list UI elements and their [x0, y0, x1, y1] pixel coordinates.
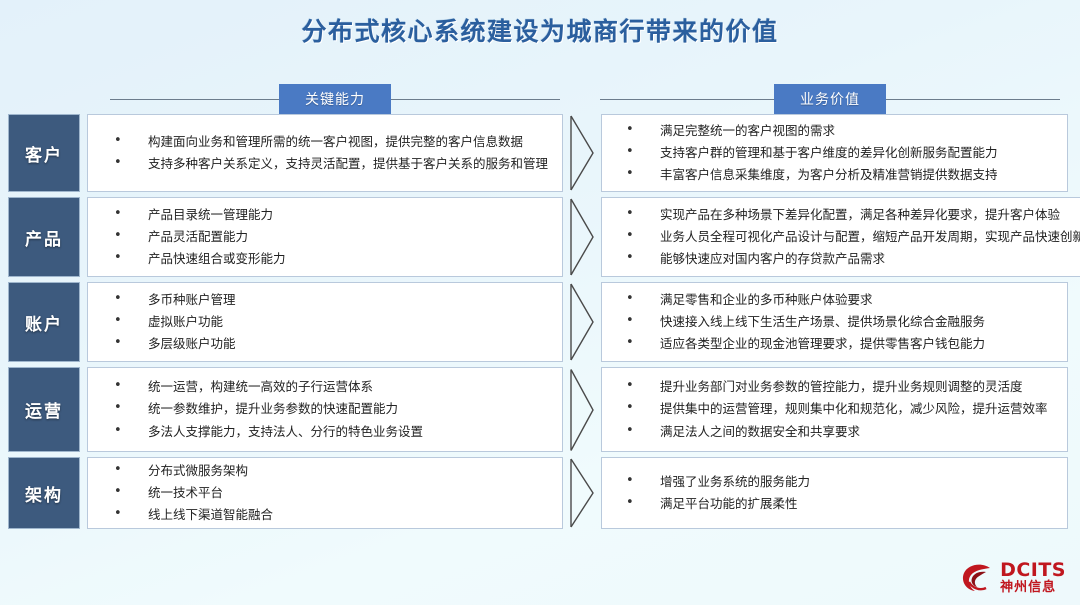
dcits-swirl-icon — [960, 562, 994, 594]
matrix-row: 架构分布式微服务架构统一技术平台线上线下渠道智能融合增强了业务系统的服务能力满足… — [0, 457, 1080, 529]
flow-arrow-3 — [563, 282, 601, 362]
capability-item: 产品灵活配置能力 — [106, 228, 552, 246]
chevron-right-icon — [569, 367, 595, 452]
logo-text-en: DCITS — [1000, 561, 1066, 581]
value-box-1: 满足完整统一的客户视图的需求支持客户群的管理和基于客户维度的差异化创新服务配置能… — [601, 114, 1068, 192]
capability-list: 构建面向业务和管理所需的统一客户视图，提供完整的客户信息数据支持多种客户关系定义… — [106, 129, 552, 177]
capability-item: 产品快速组合或变形能力 — [106, 250, 552, 268]
capability-item: 统一技术平台 — [106, 484, 552, 502]
category-label-4[interactable]: 运营 — [8, 367, 80, 452]
capability-list: 产品目录统一管理能力产品灵活配置能力产品快速组合或变形能力 — [106, 202, 552, 272]
value-item: 快速接入线上线下生活生产场景、提供场景化综合金融服务 — [618, 313, 1057, 331]
column-header-values: 业务价值 — [600, 84, 1060, 114]
chevron-right-icon — [569, 197, 595, 277]
value-item: 提升业务部门对业务参数的管控能力，提升业务规则调整的灵活度 — [618, 378, 1057, 396]
capability-list: 多币种账户管理虚拟账户功能多层级账户功能 — [106, 287, 552, 357]
value-list: 满足完整统一的客户视图的需求支持客户群的管理和基于客户维度的差异化创新服务配置能… — [618, 118, 1057, 188]
value-item: 能够快速应对国内客户的存贷款产品需求 — [618, 250, 1080, 268]
header-rule-right-2 — [886, 99, 1060, 100]
capability-item: 线上线下渠道智能融合 — [106, 506, 552, 524]
value-list: 提升业务部门对业务参数的管控能力，提升业务规则调整的灵活度提供集中的运营管理，规… — [618, 374, 1057, 444]
category-label-2[interactable]: 产品 — [8, 197, 80, 277]
capability-box-3: 多币种账户管理虚拟账户功能多层级账户功能 — [87, 282, 563, 362]
capability-item: 多币种账户管理 — [106, 291, 552, 309]
capability-item: 统一参数维护，提升业务参数的快速配置能力 — [106, 400, 552, 418]
matrix-row: 客户构建面向业务和管理所需的统一客户视图，提供完整的客户信息数据支持多种客户关系… — [0, 114, 1080, 192]
value-item: 满足完整统一的客户视图的需求 — [618, 122, 1057, 140]
value-item: 支持客户群的管理和基于客户维度的差异化创新服务配置能力 — [618, 144, 1057, 162]
value-item: 丰富客户信息采集维度，为客户分析及精准营销提供数据支持 — [618, 166, 1057, 184]
matrix-row: 账户多币种账户管理虚拟账户功能多层级账户功能满足零售和企业的多币种账户体验要求快… — [0, 282, 1080, 362]
value-item: 适应各类型企业的现金池管理要求，提供零售客户钱包能力 — [618, 335, 1057, 353]
flow-arrow-4 — [563, 367, 601, 452]
column-header-capabilities: 关键能力 — [110, 84, 560, 114]
category-label-1[interactable]: 客户 — [8, 114, 80, 192]
capability-list: 分布式微服务架构统一技术平台线上线下渠道智能融合 — [106, 458, 552, 528]
value-item: 业务人员全程可视化产品设计与配置，缩短产品开发周期，实现产品快速创新 — [618, 228, 1080, 246]
page-title: 分布式核心系统建设为城商行带来的价值 — [301, 17, 778, 46]
capability-item: 分布式微服务架构 — [106, 462, 552, 480]
value-item: 实现产品在多种场景下差异化配置，满足各种差异化要求，提升客户体验 — [618, 206, 1080, 224]
chevron-right-icon — [569, 114, 595, 192]
value-box-3: 满足零售和企业的多币种账户体验要求快速接入线上线下生活生产场景、提供场景化综合金… — [601, 282, 1068, 362]
value-item: 满足法人之间的数据安全和共享要求 — [618, 423, 1057, 441]
value-list: 实现产品在多种场景下差异化配置，满足各种差异化要求，提升客户体验业务人员全程可视… — [618, 202, 1080, 272]
logo-text-cn: 神州信息 — [1000, 581, 1066, 595]
capability-box-1: 构建面向业务和管理所需的统一客户视图，提供完整的客户信息数据支持多种客户关系定义… — [87, 114, 563, 192]
capability-box-4: 统一运营，构建统一高效的子行运营体系统一参数维护，提升业务参数的快速配置能力多法… — [87, 367, 563, 452]
slide-title-bar: 分布式核心系统建设为城商行带来的价值 — [0, 12, 1080, 48]
value-list: 满足零售和企业的多币种账户体验要求快速接入线上线下生活生产场景、提供场景化综合金… — [618, 287, 1057, 357]
flow-arrow-2 — [563, 197, 601, 277]
capability-item: 支持多种客户关系定义，支持灵活配置，提供基于客户关系的服务和管理 — [106, 155, 552, 173]
capability-item: 产品目录统一管理能力 — [106, 206, 552, 224]
company-logo: DCITS 神州信息 — [960, 561, 1066, 595]
value-matrix: 客户构建面向业务和管理所需的统一客户视图，提供完整的客户信息数据支持多种客户关系… — [0, 114, 1080, 534]
matrix-row: 运营统一运营，构建统一高效的子行运营体系统一参数维护，提升业务参数的快速配置能力… — [0, 367, 1080, 452]
matrix-row: 产品产品目录统一管理能力产品灵活配置能力产品快速组合或变形能力实现产品在多种场景… — [0, 197, 1080, 277]
capability-list: 统一运营，构建统一高效的子行运营体系统一参数维护，提升业务参数的快速配置能力多法… — [106, 374, 552, 444]
category-label-3[interactable]: 账户 — [8, 282, 80, 362]
value-item: 增强了业务系统的服务能力 — [618, 473, 1057, 491]
flow-arrow-1 — [563, 114, 601, 192]
header-chip-values: 业务价值 — [774, 84, 886, 114]
capability-item: 多层级账户功能 — [106, 335, 552, 353]
value-item: 提供集中的运营管理，规则集中化和规范化，减少风险，提升运营效率 — [618, 400, 1057, 418]
capability-item: 虚拟账户功能 — [106, 313, 552, 331]
value-box-2: 实现产品在多种场景下差异化配置，满足各种差异化要求，提升客户体验业务人员全程可视… — [601, 197, 1080, 277]
capability-item: 多法人支撑能力，支持法人、分行的特色业务设置 — [106, 423, 552, 441]
header-rule-left-2 — [391, 99, 560, 100]
value-box-4: 提升业务部门对业务参数的管控能力，提升业务规则调整的灵活度提供集中的运营管理，规… — [601, 367, 1068, 452]
capability-item: 统一运营，构建统一高效的子行运营体系 — [106, 378, 552, 396]
value-box-5: 增强了业务系统的服务能力满足平台功能的扩展柔性 — [601, 457, 1068, 529]
header-rule-left — [110, 99, 279, 100]
value-list: 增强了业务系统的服务能力满足平台功能的扩展柔性 — [618, 469, 1057, 517]
column-headers: 关键能力 业务价值 — [0, 84, 1080, 114]
capability-item: 构建面向业务和管理所需的统一客户视图，提供完整的客户信息数据 — [106, 133, 552, 151]
value-item: 满足零售和企业的多币种账户体验要求 — [618, 291, 1057, 309]
logo-wordmark: DCITS 神州信息 — [1000, 561, 1066, 595]
header-chip-capabilities: 关键能力 — [279, 84, 391, 114]
value-item: 满足平台功能的扩展柔性 — [618, 495, 1057, 513]
flow-arrow-5 — [563, 457, 601, 529]
header-rule-right — [600, 99, 774, 100]
category-label-5[interactable]: 架构 — [8, 457, 80, 529]
capability-box-5: 分布式微服务架构统一技术平台线上线下渠道智能融合 — [87, 457, 563, 529]
chevron-right-icon — [569, 282, 595, 362]
chevron-right-icon — [569, 457, 595, 529]
capability-box-2: 产品目录统一管理能力产品灵活配置能力产品快速组合或变形能力 — [87, 197, 563, 277]
